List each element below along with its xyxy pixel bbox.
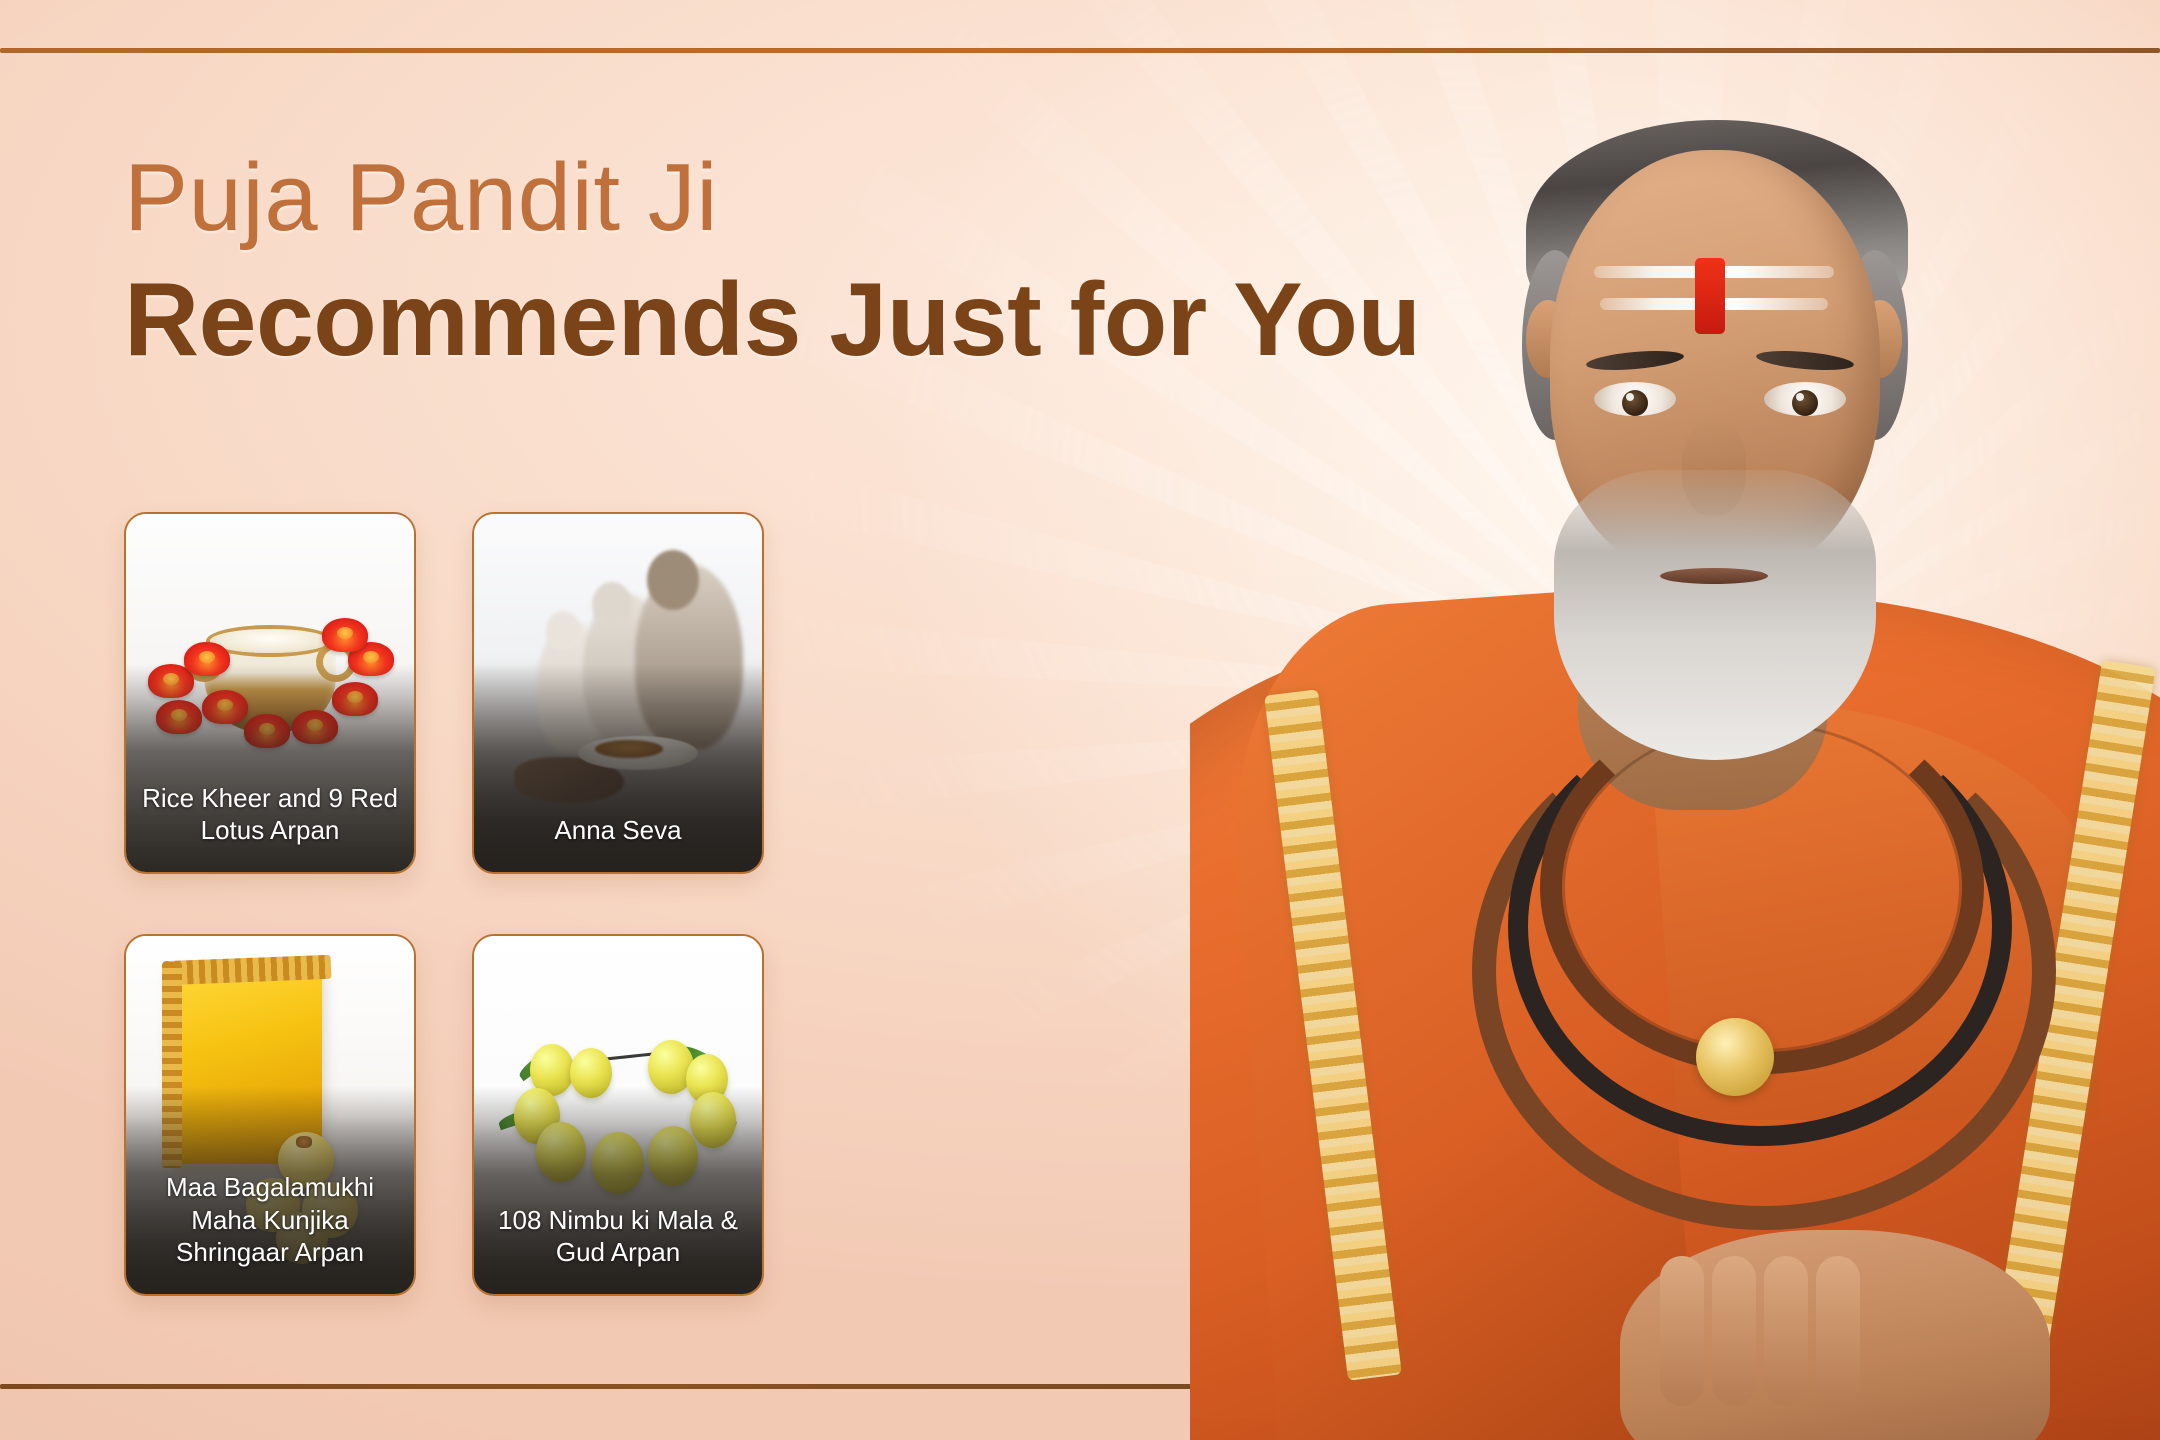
card-label: Maa Bagalamukhi Maha Kunjika Shringaar A… [138,1171,402,1268]
devotee-head [592,582,632,628]
card-label: Rice Kheer and 9 Red Lotus Arpan [138,782,402,846]
devotee-head [647,550,699,610]
rudraksha-mala-inner [1540,700,1984,1074]
iris-left [1622,390,1648,416]
recommendation-card-anna-seva[interactable]: Anna Seva [472,512,764,874]
pandit-ji-portrait [1190,0,2160,1440]
recommendation-card-nimbu-mala[interactable]: 108 Nimbu ki Mala & Gud Arpan [472,934,764,1296]
iris-right [1792,390,1818,416]
finger [1660,1256,1704,1406]
recommendation-card-rice-kheer[interactable]: Rice Kheer and 9 Red Lotus Arpan [124,512,416,874]
mouth [1660,568,1768,584]
finger [1764,1256,1808,1406]
bottom-divider-rule [0,1384,1200,1389]
card-label: Anna Seva [486,814,750,846]
eye-left [1594,382,1676,416]
recommendation-card-grid: Rice Kheer and 9 Red Lotus Arpan Anna Se… [124,512,954,1296]
lotus-icon [322,618,368,652]
finger [1816,1256,1860,1406]
card-label: 108 Nimbu ki Mala & Gud Arpan [486,1204,750,1268]
recommendation-card-shringaar[interactable]: Maa Bagalamukhi Maha Kunjika Shringaar A… [124,934,416,1296]
beard [1554,470,1876,760]
finger [1712,1256,1756,1406]
devotee-head [546,611,580,651]
gold-pendant-icon [1696,1018,1774,1096]
eye-right [1764,382,1846,416]
red-tilak-mark-icon [1695,258,1725,334]
promo-banner: Puja Pandit Ji Recommends Just for You [0,0,2160,1440]
